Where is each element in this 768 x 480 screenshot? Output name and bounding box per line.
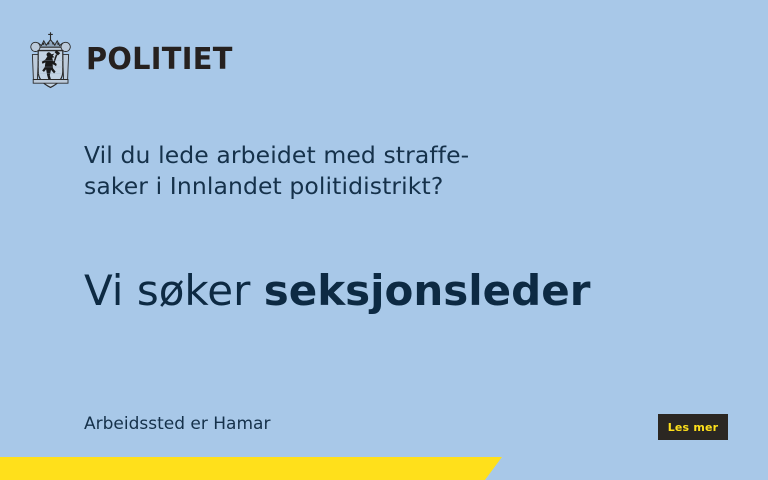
subheading: Vil du lede arbeidet med straffe- saker … (84, 140, 554, 202)
politiet-logo: POLITIET (27, 31, 239, 89)
politiet-wordmark: POLITIET (86, 45, 233, 75)
page-title: Vi søker seksjonsleder (84, 266, 590, 316)
norwegian-coat-of-arms-icon (27, 31, 74, 89)
headline-light-part: Vi søker (84, 266, 264, 315)
read-more-button-label: Les mer (668, 422, 719, 433)
headline-strong-part: seksjonsleder (264, 266, 591, 315)
accent-stripe (0, 457, 502, 480)
read-more-button[interactable]: Les mer (658, 414, 728, 440)
subheading-line-1: Vil du lede arbeidet med straffe- (84, 140, 554, 171)
subheading-line-2: saker i Innlandet politidistrikt? (84, 171, 554, 202)
recruitment-banner: POLITIET Vil du lede arbeidet med straff… (0, 0, 768, 480)
location-note: Arbeidssted er Hamar (84, 412, 270, 436)
